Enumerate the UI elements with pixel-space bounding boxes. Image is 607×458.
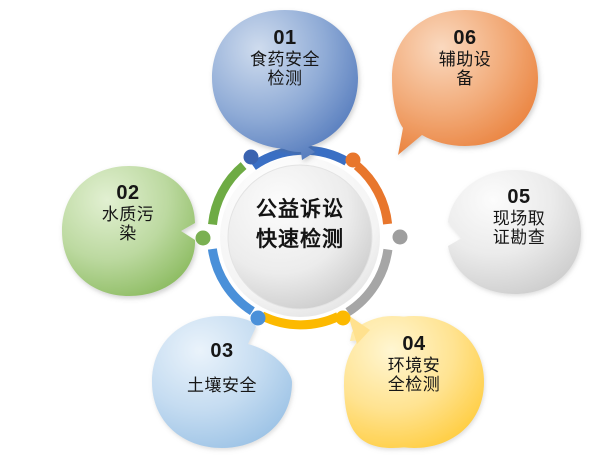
bubble-04[interactable] bbox=[344, 315, 484, 448]
bubble-02[interactable] bbox=[62, 166, 195, 296]
bubble-01[interactable] bbox=[212, 10, 358, 160]
connector-dot-06 bbox=[346, 153, 361, 168]
bubble-01-shape[interactable] bbox=[212, 10, 358, 160]
diagram-canvas: 公益诉讼 快速检测 01 食药安全 检测 06 辅助设 备 02 水质污 染 0… bbox=[0, 0, 607, 458]
bubble-05[interactable] bbox=[448, 170, 581, 294]
bubble-06-shape[interactable] bbox=[392, 10, 538, 155]
connector-dot-01 bbox=[244, 150, 259, 165]
bubble-02-shape[interactable] bbox=[62, 166, 195, 296]
bubble-03[interactable] bbox=[152, 316, 292, 448]
diagram-graphics bbox=[0, 0, 607, 458]
connector-dot-02 bbox=[196, 231, 211, 246]
connector-dot-05 bbox=[393, 230, 408, 245]
bubble-04-body[interactable] bbox=[344, 316, 484, 448]
bubble-06[interactable] bbox=[392, 10, 538, 155]
bubble-05-shape[interactable] bbox=[448, 170, 581, 294]
connector-dot-03 bbox=[251, 311, 266, 326]
center-disc-inner bbox=[228, 165, 372, 309]
bubble-03-shape[interactable] bbox=[152, 316, 292, 448]
ring-segment-yellow bbox=[262, 316, 338, 325]
connector-dot-04 bbox=[336, 311, 351, 326]
